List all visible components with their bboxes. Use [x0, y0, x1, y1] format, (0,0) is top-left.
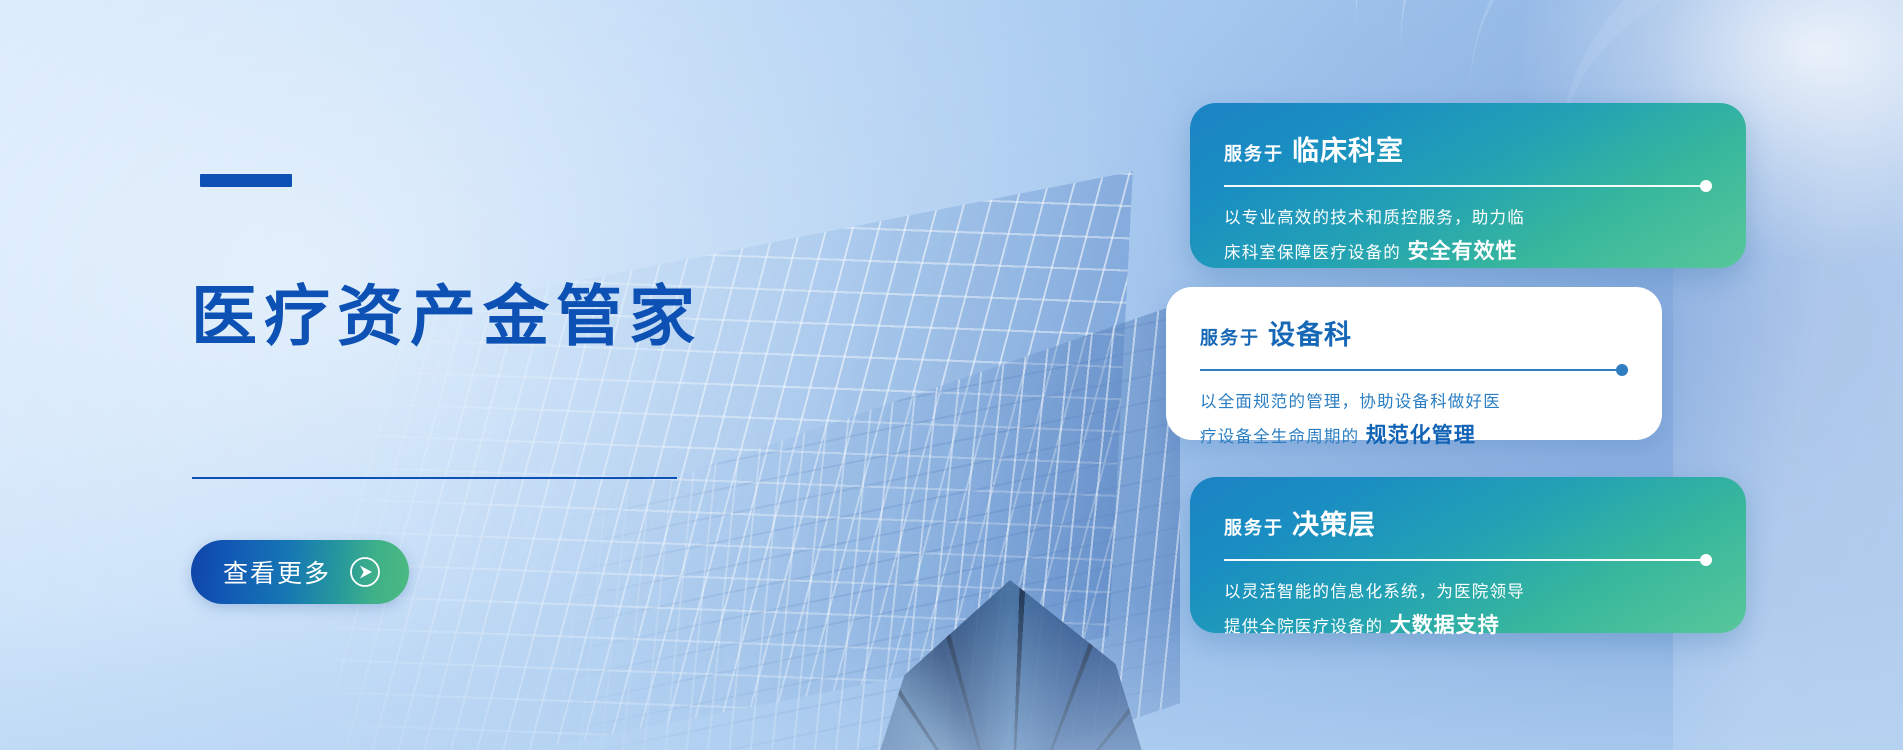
card-body-line2-prefix: 疗设备全生命周期的	[1200, 427, 1359, 446]
card-rule	[1224, 181, 1712, 191]
card-body-line1: 以全面规范的管理，协助设备科做好医	[1200, 388, 1628, 417]
card-rule-dot	[1700, 554, 1712, 566]
card-rule-dot	[1616, 364, 1628, 376]
card-lead: 服务于	[1224, 140, 1284, 166]
card-body-line2-prefix: 床科室保障医疗设备的	[1224, 243, 1401, 262]
card-rule	[1224, 555, 1712, 565]
card-body-line2: 疗设备全生命周期的 规范化管理	[1200, 417, 1628, 454]
card-body-line1: 以专业高效的技术和质控服务，助力临	[1224, 204, 1712, 233]
card-body-line1: 以灵活智能的信息化系统，为医院领导	[1224, 578, 1712, 607]
card-rule-dot	[1700, 180, 1712, 192]
card-title: 服务于 决策层	[1224, 503, 1712, 542]
view-more-button[interactable]: 查看更多	[191, 540, 409, 604]
service-card-clinical[interactable]: 服务于 临床科室 以专业高效的技术和质控服务，助力临 床科室保障医疗设备的 安全…	[1190, 103, 1746, 268]
view-more-label: 查看更多	[223, 554, 331, 590]
card-body-line2-prefix: 提供全院医疗设备的	[1224, 617, 1383, 636]
title-divider	[192, 477, 677, 479]
arrow-right-circle-icon	[349, 556, 381, 588]
service-card-equipment[interactable]: 服务于 设备科 以全面规范的管理，协助设备科做好医 疗设备全生命周期的 规范化管…	[1166, 287, 1662, 440]
card-lead: 服务于	[1224, 514, 1284, 540]
card-body: 以灵活智能的信息化系统，为医院领导 提供全院医疗设备的 大数据支持	[1224, 578, 1712, 644]
accent-bar	[200, 174, 292, 187]
page-title: 医疗资产金管家	[191, 280, 702, 354]
card-rule-line	[1224, 185, 1702, 187]
card-title: 服务于 设备科	[1200, 313, 1628, 352]
card-body-emphasis: 安全有效性	[1407, 239, 1517, 263]
card-title: 服务于 临床科室	[1224, 129, 1712, 168]
card-target: 临床科室	[1292, 129, 1404, 168]
card-target: 决策层	[1292, 503, 1376, 542]
card-body-line2: 床科室保障医疗设备的 安全有效性	[1224, 233, 1712, 270]
banner-stage: 医疗资产金管家 查看更多 服务于 临床科室 以专业高效的技术和质控服务，助力临 …	[0, 0, 1903, 750]
card-rule-line	[1224, 559, 1702, 561]
hero-left-column: 医疗资产金管家 查看更多	[0, 0, 760, 750]
card-target: 设备科	[1268, 313, 1352, 352]
card-body-line2: 提供全院医疗设备的 大数据支持	[1224, 607, 1712, 644]
service-card-decision[interactable]: 服务于 决策层 以灵活智能的信息化系统，为医院领导 提供全院医疗设备的 大数据支…	[1190, 477, 1746, 633]
card-rule-line	[1200, 369, 1618, 371]
card-lead: 服务于	[1200, 324, 1260, 350]
card-body: 以全面规范的管理，协助设备科做好医 疗设备全生命周期的 规范化管理	[1200, 388, 1628, 454]
card-rule	[1200, 365, 1628, 375]
card-body-emphasis: 大数据支持	[1390, 613, 1500, 637]
card-body-emphasis: 规范化管理	[1366, 423, 1476, 447]
card-body: 以专业高效的技术和质控服务，助力临 床科室保障医疗设备的 安全有效性	[1224, 204, 1712, 270]
